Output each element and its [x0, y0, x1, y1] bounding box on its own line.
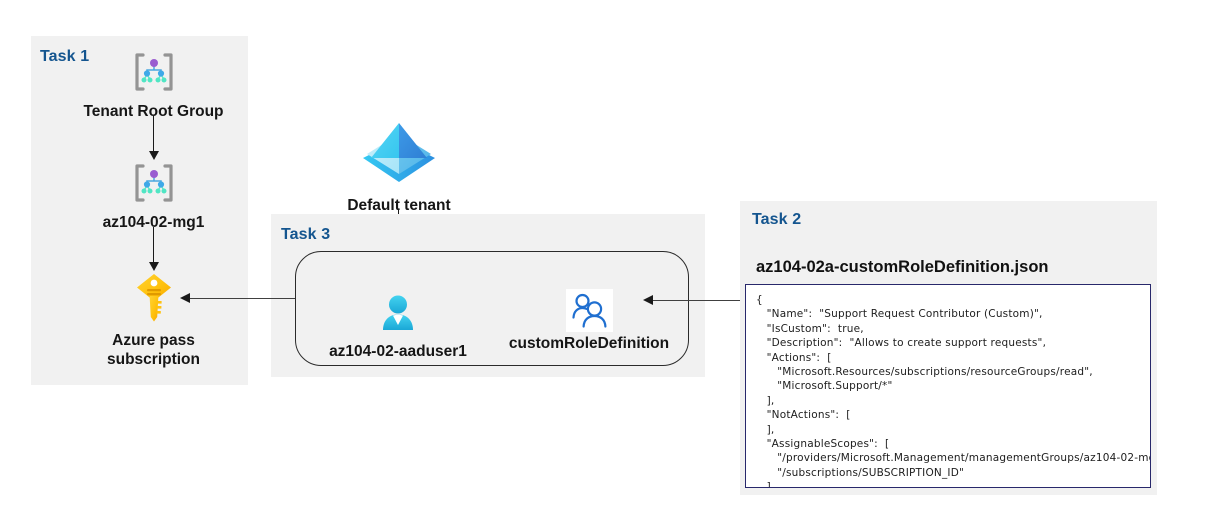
connector-root-to-mg — [153, 116, 154, 152]
code-line: ] — [756, 480, 1140, 488]
custom-role-users-icon — [566, 289, 613, 332]
user-icon — [313, 292, 483, 341]
code-line: "Microsoft.Resources/subscriptions/resou… — [756, 365, 1140, 379]
task3-label: Task 3 — [281, 226, 330, 244]
key-icon — [76, 272, 231, 329]
arrowhead-task2-to-custom-role — [643, 295, 653, 305]
node-default-tenant-label: Default tenant — [325, 196, 473, 215]
task2-file-name: az104-02a-customRoleDefinition.json — [756, 258, 1048, 277]
management-group-icon — [76, 49, 231, 100]
node-custom-role-definition-label: customRoleDefinition — [495, 334, 683, 353]
code-line: "Microsoft.Support/*" — [756, 379, 1140, 393]
node-aad-user[interactable]: az104-02-aaduser1 — [313, 292, 483, 361]
task2-label: Task 2 — [752, 211, 801, 229]
connector-mg-to-subscription — [153, 227, 154, 263]
management-group-icon — [76, 160, 231, 211]
arrowhead-task3-to-subscription — [180, 293, 190, 303]
diagram-canvas: Task 1 Tenant Root Group — [0, 0, 1212, 522]
node-subscription-label-line2: subscription — [76, 350, 231, 369]
connector-task2-to-custom-role — [653, 300, 741, 301]
node-subscription-label-line1: Azure pass — [76, 331, 231, 350]
code-line: ], — [756, 394, 1140, 408]
code-line: "Name": "Support Request Contributor (Cu… — [756, 307, 1140, 321]
node-management-group[interactable]: az104-02-mg1 — [76, 160, 231, 232]
code-line: "AssignableScopes": [ — [756, 437, 1140, 451]
code-line: "Description": "Allows to create support… — [756, 336, 1140, 350]
code-lines-container: { "Name": "Support Request Contributor (… — [756, 293, 1140, 488]
node-custom-role-definition[interactable]: customRoleDefinition — [495, 289, 683, 353]
node-tenant-root-group[interactable]: Tenant Root Group — [76, 49, 231, 121]
node-default-tenant[interactable]: Default tenant — [325, 118, 473, 215]
connector-task3-to-subscription — [190, 298, 295, 299]
custom-role-json-code-box[interactable]: { "Name": "Support Request Contributor (… — [745, 284, 1151, 488]
code-line: "/providers/Microsoft.Management/managem… — [756, 451, 1140, 465]
arrowhead-root-to-mg — [149, 151, 159, 160]
arrowhead-mg-to-subscription — [149, 262, 159, 271]
node-subscription[interactable]: Azure pass subscription — [76, 272, 231, 369]
code-line: "Actions": [ — [756, 351, 1140, 365]
code-line: { — [756, 293, 1140, 307]
node-aad-user-label: az104-02-aaduser1 — [313, 342, 483, 361]
azure-active-directory-icon — [325, 118, 473, 197]
code-line: "IsCustom": true, — [756, 322, 1140, 336]
code-line: "/subscriptions/SUBSCRIPTION_ID" — [756, 466, 1140, 480]
code-line: "NotActions": [ — [756, 408, 1140, 422]
code-line: ], — [756, 423, 1140, 437]
